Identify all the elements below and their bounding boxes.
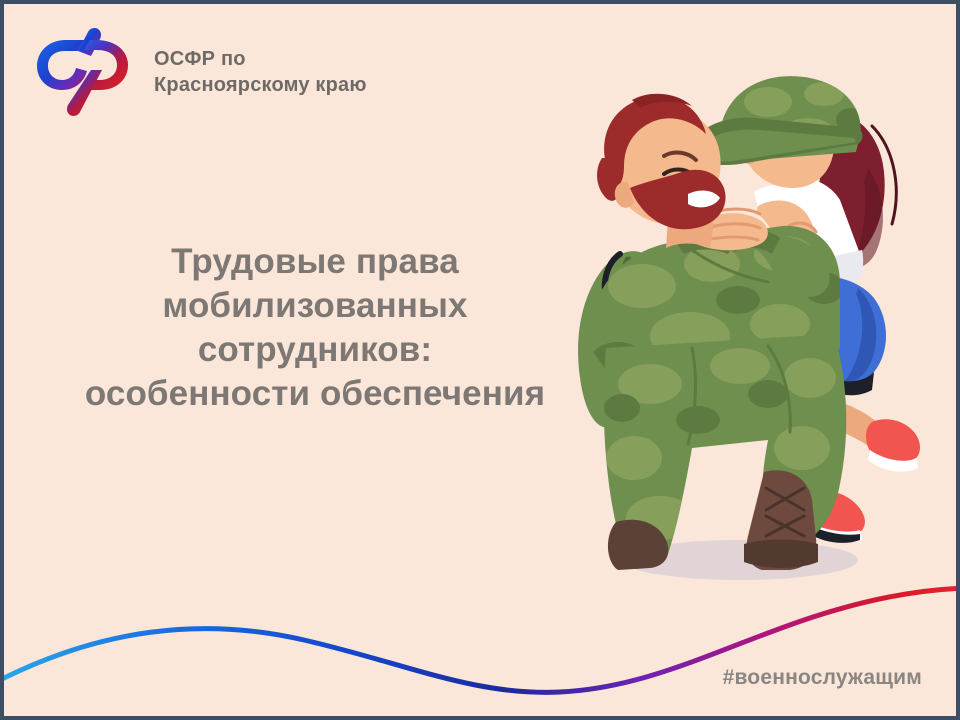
soldier-head [597, 94, 725, 229]
title-line-4: особенности обеспечения [12, 372, 618, 416]
hashtag-label: #военнослужащим [723, 666, 922, 690]
header-brand-block: ОСФР по Красноярскому краю [34, 26, 367, 118]
title-line-2: мобилизованных [12, 284, 618, 328]
title-line-3: сотрудников: [12, 328, 618, 372]
sfr-logo-icon [34, 26, 138, 118]
soldier-lifting-girl-illustration [572, 48, 960, 638]
girl-sneaker-back [866, 419, 920, 471]
title-line-1: Трудовые права [12, 240, 618, 284]
poster-title: Трудовые права мобилизованных сотруднико… [12, 240, 618, 416]
org-name-label: ОСФР по Красноярскому краю [154, 46, 367, 99]
poster-canvas: ОСФР по Красноярскому краю Трудовые прав… [0, 0, 960, 720]
